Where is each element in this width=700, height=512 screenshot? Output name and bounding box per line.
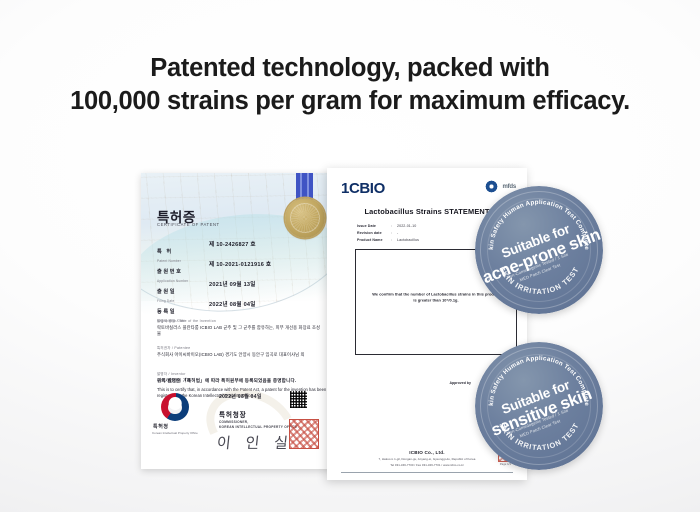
seal-arc-top-text: Skin Safety Human Application Test Compl… [475, 342, 590, 406]
patent-field-row: 등록일 Registration Date 2022년 08월 04일 [157, 300, 317, 320]
patentee-block: 특허권자 / Patentee 주식회사 아이씨바이오(ICBIO LAB) 경… [157, 345, 323, 358]
metadata-value: Lactobacillus [397, 238, 419, 242]
metadata-key: Product Name [357, 238, 391, 242]
metadata-value: - [397, 231, 398, 235]
kipo-name-kr: 특허청 [153, 423, 169, 430]
patent-field-row: 특 허 Patent Number 제 10-2426827 호 [157, 240, 317, 260]
seal-acne-prone-skin[interactable]: Skin Safety Human Application Test Compl… [475, 186, 603, 314]
seal-arc-text-group: Skin Safety Human Application Test Compl… [475, 342, 603, 470]
taegeuk-inner-circle [168, 401, 181, 414]
certification-statement-kr: 위의 발명은 「특허법」에 따라 특허원부에 등록되었음을 증명합니다. [157, 378, 327, 384]
metadata-value: 2022-01-10 [397, 224, 416, 228]
invention-title-block: 발명의 명칭 / Title of the Invention 락토바실러스 플… [157, 318, 323, 337]
commissioner-signature: 이 인 실 [216, 432, 294, 453]
patent-field-row: 출원번호 Application Number 제 10-2021-012191… [157, 260, 317, 280]
invention-title-heading: 발명의 명칭 / Title of the Invention [157, 318, 323, 323]
icbio-logo: 1CBIO [341, 180, 385, 197]
kipo-taegeuk-logo-icon [161, 393, 189, 421]
seal-arc-bottom-text: SKIN IRRITATION TEST [497, 265, 581, 296]
patent-field-row: 출원일 Filing Date 2021년 09월 13일 [157, 280, 317, 300]
headline-line-1: Patented technology, packed with [150, 54, 549, 82]
field-label-kr: 출원일 [157, 289, 176, 295]
patentee-heading: 특허권자 / Patentee [157, 345, 323, 350]
patent-field-list: 특 허 Patent Number 제 10-2426827 호 출원번호 Ap… [157, 240, 317, 320]
patentee-body: 주식회사 아이씨바이오(ICBIO LAB) 경기도 안양시 동안구 임곡로 대… [157, 352, 323, 358]
metadata-key: Issue Date [357, 224, 391, 228]
patent-certificate-document[interactable]: 특허증 CERTIFICATE OF PATENT 특 허 Patent Num… [141, 173, 331, 469]
invention-title-body: 락토바실러스 플란타룸 ICBIO LAB 균주 및 그 균주를 함유하는, 피… [157, 325, 323, 337]
field-label-kr: 등록일 [157, 309, 176, 315]
field-value: 제 10-2021-0121916 호 [209, 260, 271, 268]
certificate-footer: 특허청 Korean Intellectual Property Office … [141, 385, 331, 463]
metadata-row: Product Name : Lactobacillus [357, 238, 419, 245]
seal-arc-bottom-textpath: SKIN IRRITATION TEST [497, 421, 581, 452]
icbio-logo-text: 1CBIO [341, 180, 385, 197]
seal-arc-top-textpath: Skin Safety Human Application Test Compl… [475, 342, 590, 406]
seal-arc-bottom-textpath: SKIN IRRITATION TEST [497, 265, 581, 296]
field-label-kr: 출원번호 [157, 269, 183, 275]
patent-title-english: CERTIFICATE OF PATENT [157, 222, 220, 227]
commissioner-title-kr: 특허청장 [219, 409, 246, 419]
metadata-row: Issue Date : 2022-01-10 [357, 224, 419, 231]
official-red-seal-icon [289, 419, 319, 449]
page-title: Patented technology, packed with 100,000… [0, 52, 700, 118]
seal-arc-text-group: Skin Safety Human Application Test Compl… [475, 186, 603, 314]
approved-by-label: Approved by [450, 381, 471, 385]
headline-line-2: 100,000 strains per gram for maximum eff… [0, 85, 700, 118]
promo-banner: Patented technology, packed with 100,000… [0, 0, 700, 512]
document-cluster: 특허증 CERTIFICATE OF PATENT 특 허 Patent Num… [141, 168, 571, 488]
field-value: 2021년 09월 13일 [209, 280, 256, 288]
inventor-heading: 발명자 / Inventor [157, 371, 323, 376]
footer-divider [341, 472, 513, 473]
field-label-kr: 특 허 [157, 249, 173, 255]
issue-date: 2022년 08월 04일 [219, 393, 262, 400]
field-value: 제 10-2426827 호 [209, 240, 256, 248]
gold-medal-icon [285, 198, 325, 238]
metadata-row: Revision date : - [357, 231, 419, 238]
seal-sensitive-skin[interactable]: Skin Safety Human Application Test Compl… [475, 342, 603, 470]
seal-arc-top-text: Skin Safety Human Application Test Compl… [475, 186, 590, 250]
qr-code-icon [290, 391, 307, 408]
field-value: 2022년 08월 04일 [209, 300, 256, 308]
statement-metadata: Issue Date : 2022-01-10 Revision date : … [357, 224, 419, 245]
kipo-name-en: Korean Intellectual Property Office [147, 431, 203, 436]
seal-arc-top-textpath: Skin Safety Human Application Test Compl… [475, 186, 590, 250]
taegeuk-symbol-icon [161, 393, 189, 421]
commissioner-title-en-line2: KOREAN INTELLECTUAL PROPERTY OFFICE [219, 425, 297, 429]
commissioner-title-en-line1: COMMISSIONER, [219, 420, 248, 424]
seal-arc-bottom-text: SKIN IRRITATION TEST [497, 421, 581, 452]
metadata-key: Revision date [357, 231, 391, 235]
